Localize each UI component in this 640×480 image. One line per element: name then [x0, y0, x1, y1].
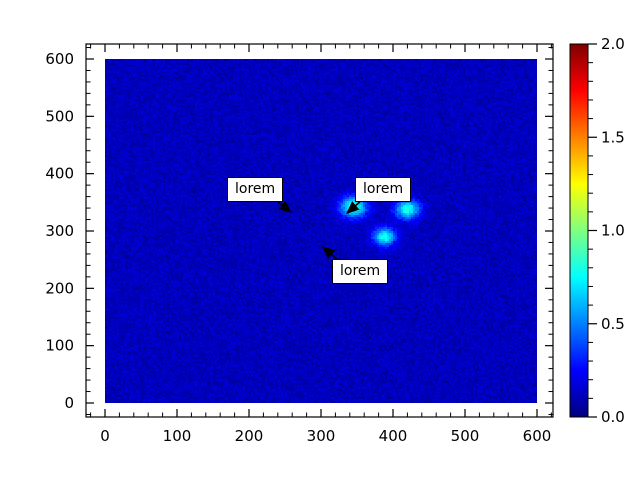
- y-axis-tick-label: 100: [45, 337, 74, 355]
- colorbar-gradient: [570, 44, 588, 417]
- figure-canvas: 010020030040050060001002003004005006000.…: [0, 0, 640, 480]
- x-axis-tick-label: 300: [307, 427, 336, 445]
- y-axis-tick-label: 500: [45, 107, 74, 125]
- y-axis-tick-label: 400: [45, 165, 74, 183]
- annotation-label-box[interactable]: lorem: [227, 177, 283, 202]
- colorbar-tick-label: 1.5: [601, 128, 625, 146]
- axes-layer: 010020030040050060001002003004005006000.…: [0, 0, 640, 480]
- y-axis-tick-label: 0: [64, 394, 74, 412]
- colorbar-tick-label: 0.0: [601, 408, 625, 426]
- colorbar-tick-label: 2.0: [601, 35, 625, 53]
- y-axis-tick-label: 600: [45, 50, 74, 68]
- x-axis-tick-label: 100: [163, 427, 192, 445]
- plot-frame: [86, 44, 553, 417]
- annotation-label-box[interactable]: lorem: [355, 177, 411, 202]
- x-axis-tick-label: 500: [451, 427, 480, 445]
- x-axis-tick-label: 600: [523, 427, 552, 445]
- colorbar-tick-label: 0.5: [601, 315, 625, 333]
- x-axis-tick-label: 0: [100, 427, 110, 445]
- x-axis-tick-label: 400: [379, 427, 408, 445]
- annotation-label-box[interactable]: lorem: [332, 259, 388, 284]
- y-axis-tick-label: 200: [45, 279, 74, 297]
- colorbar-tick-label: 1.0: [601, 222, 625, 240]
- x-axis-tick-label: 200: [235, 427, 264, 445]
- y-axis-tick-label: 300: [45, 222, 74, 240]
